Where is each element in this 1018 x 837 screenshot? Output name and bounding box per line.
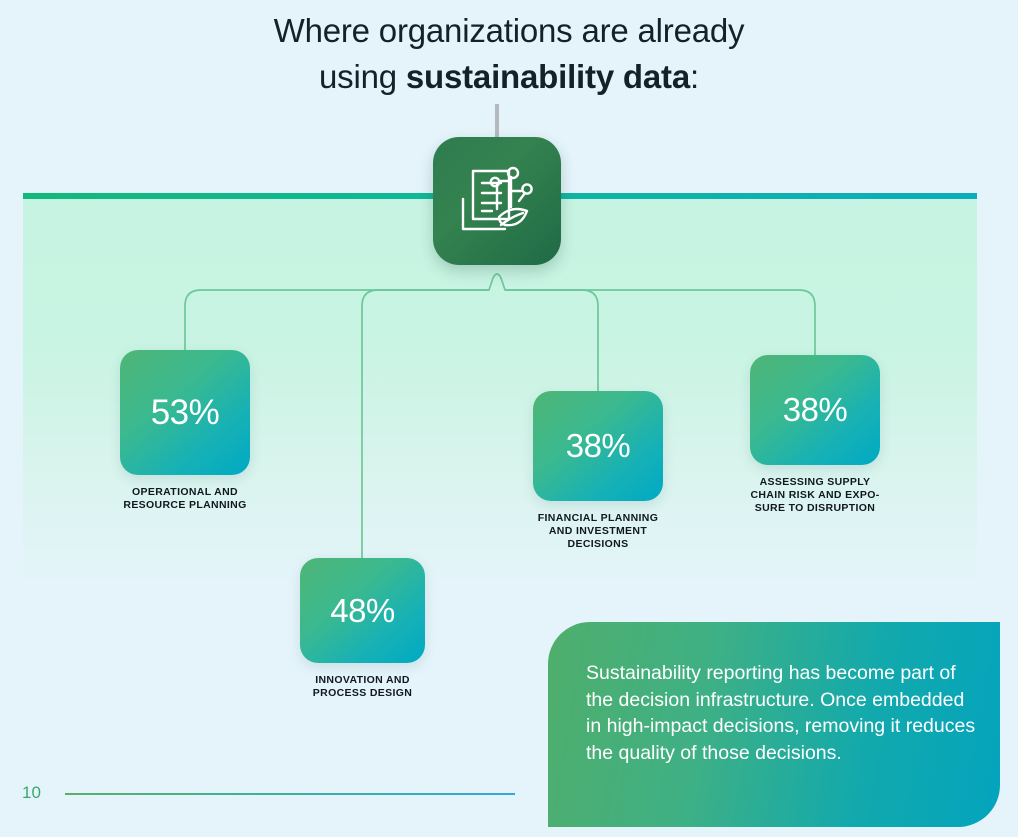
stat-card-financial[interactable]: 38% FINANCIAL PLANNING AND INVESTMENT DE…	[533, 391, 663, 551]
stat-card-innovation[interactable]: 48% INNOVATION AND PROCESS DESIGN	[300, 558, 425, 700]
stat-value: 48%	[330, 592, 395, 630]
stat-card-supply-chain[interactable]: 38% ASSESSING SUPPLY CHAIN RISK AND EXPO…	[750, 355, 880, 515]
page-number: 10	[22, 783, 41, 803]
stat-label: ASSESSING SUPPLY CHAIN RISK AND EXPO- SU…	[750, 476, 880, 515]
stat-value: 38%	[783, 391, 848, 429]
stat-card-operational[interactable]: 53% OPERATIONAL AND RESOURCE PLANNING	[120, 350, 250, 512]
stat-value-tile: 38%	[533, 391, 663, 501]
stat-value: 53%	[151, 393, 220, 433]
hub-icon-tile	[433, 137, 561, 265]
title-line-2-suffix: :	[690, 58, 699, 95]
insight-callout: Sustainability reporting has become part…	[548, 622, 1000, 827]
title-line-1: Where organizations are already	[0, 8, 1018, 54]
page-title: Where organizations are already using su…	[0, 8, 1018, 100]
title-line-2-prefix: using	[319, 58, 406, 95]
title-line-2: using sustainability data:	[0, 54, 1018, 100]
stat-label: OPERATIONAL AND RESOURCE PLANNING	[120, 486, 250, 512]
stat-value: 38%	[566, 427, 631, 465]
stat-value-tile: 38%	[750, 355, 880, 465]
stat-label: INNOVATION AND PROCESS DESIGN	[300, 674, 425, 700]
stat-value-tile: 53%	[120, 350, 250, 475]
stat-label: FINANCIAL PLANNING AND INVESTMENT DECISI…	[533, 512, 663, 551]
hub-stem	[495, 104, 499, 140]
insight-callout-text: Sustainability reporting has become part…	[586, 660, 976, 766]
title-emphasis: sustainability data	[406, 58, 690, 95]
footer-rule	[65, 793, 515, 795]
stat-value-tile: 48%	[300, 558, 425, 663]
